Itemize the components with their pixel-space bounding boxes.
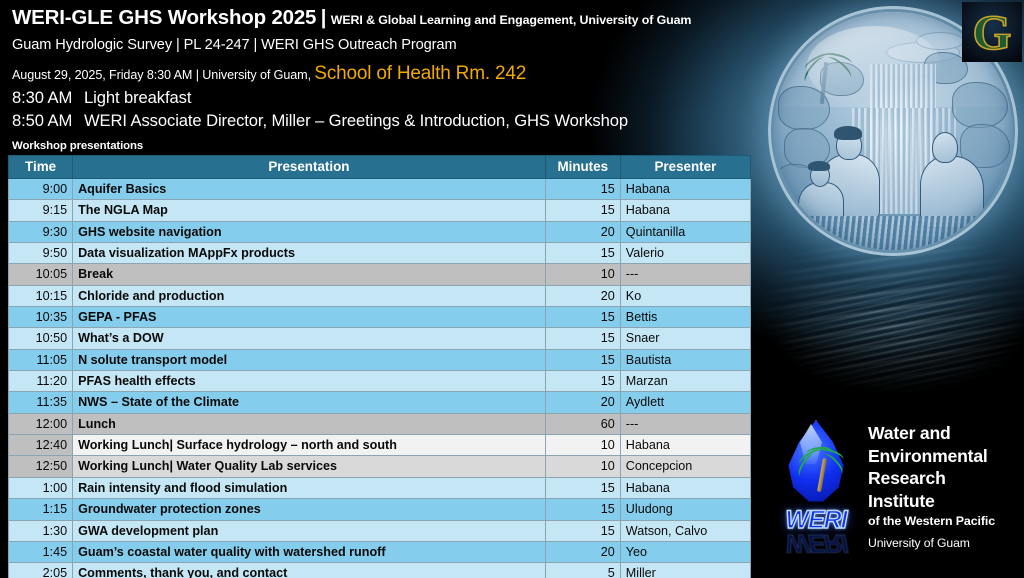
row-presentation: GEPA - PFAS — [73, 307, 546, 328]
row-presentation: Guam’s coastal water quality with waters… — [73, 541, 546, 562]
weri-name-line-3: Research — [868, 467, 995, 490]
weri-logo-block: WERI WERI Water and Environmental Resear… — [778, 420, 995, 552]
pre-item-time: 8:30 AM — [12, 86, 84, 109]
row-time: 12:00 — [9, 413, 73, 434]
row-presenter: Valerio — [620, 243, 750, 264]
table-row: 10:50What’s a DOW15Snaer — [9, 328, 751, 349]
row-minutes: 15 — [545, 328, 620, 349]
row-presentation: Aquifer Basics — [73, 179, 546, 200]
table-row: 1:15Groundwater protection zones15Uludon… — [9, 499, 751, 520]
row-presentation: Working Lunch| Water Quality Lab service… — [73, 456, 546, 477]
table-header-row: Time Presentation Minutes Presenter — [9, 156, 751, 179]
table-row: 11:20PFAS health effects15Marzan — [9, 371, 751, 392]
row-time: 10:05 — [9, 264, 73, 285]
column-header-presenter: Presenter — [620, 156, 750, 179]
header-line-survey: Guam Hydrologic Survey | PL 24-247 | WER… — [12, 37, 691, 53]
page-title: WERI-GLE GHS Workshop 2025 | WERI & Glob… — [12, 6, 691, 30]
table-row: 10:35GEPA - PFAS15Bettis — [9, 307, 751, 328]
row-time: 2:05 — [9, 563, 73, 578]
column-header-time: Time — [9, 156, 73, 179]
row-presenter: Yeo — [620, 541, 750, 562]
row-presentation: NWS – State of the Climate — [73, 392, 546, 413]
column-header-presentation: Presentation — [73, 156, 546, 179]
table-row: 9:00Aquifer Basics15Habana — [9, 179, 751, 200]
uog-g-letter: G — [973, 4, 1012, 60]
row-minutes: 15 — [545, 499, 620, 520]
row-presenter: Habana — [620, 435, 750, 456]
table-row: 2:05Comments, thank you, and contact5Mil… — [9, 563, 751, 578]
row-presenter: Concepcion — [620, 456, 750, 477]
table-row: 9:50Data visualization MAppFx products15… — [9, 243, 751, 264]
row-time: 1:30 — [9, 520, 73, 541]
agenda-table: Time Presentation Minutes Presenter 9:00… — [8, 155, 751, 578]
row-minutes: 20 — [545, 285, 620, 306]
table-row: 11:05N solute transport model15Bautista — [9, 349, 751, 370]
title-separator: | — [321, 7, 327, 29]
row-presentation: The NGLA Map — [73, 200, 546, 221]
row-time: 10:50 — [9, 328, 73, 349]
row-presenter: Habana — [620, 179, 750, 200]
table-row: 12:50Working Lunch| Water Quality Lab se… — [9, 456, 751, 477]
section-label: Workshop presentations — [12, 140, 143, 152]
weri-name-line-4: Institute — [868, 490, 995, 513]
event-room-text: School of Health Rm. 242 — [314, 63, 526, 84]
table-row: 10:05Break10--- — [9, 264, 751, 285]
row-presentation: Chloride and production — [73, 285, 546, 306]
table-row: 12:00Lunch60--- — [9, 413, 751, 434]
table-row: 1:30GWA development plan15Watson, Calvo — [9, 520, 751, 541]
event-datetime-text: August 29, 2025, Friday 8:30 AM | Univer… — [12, 68, 311, 82]
weri-name-line-5: of the Western Pacific — [868, 514, 995, 528]
row-presenter: Bettis — [620, 307, 750, 328]
weri-wordmark-reflection: WERI — [778, 528, 854, 557]
pre-session-list: 8:30 AMLight breakfast 8:50 AMWERI Assoc… — [12, 86, 628, 132]
row-minutes: 20 — [545, 541, 620, 562]
table-row: 12:40Working Lunch| Surface hydrology – … — [9, 435, 751, 456]
row-time: 9:00 — [9, 179, 73, 200]
pre-item-text: Light breakfast — [84, 88, 191, 107]
weri-logo-mark: WERI WERI — [778, 420, 854, 552]
row-minutes: 15 — [545, 179, 620, 200]
row-minutes: 20 — [545, 392, 620, 413]
list-item: 8:30 AMLight breakfast — [12, 86, 628, 109]
table-row: 9:30GHS website navigation20Quintanilla — [9, 221, 751, 242]
row-presenter: Bautista — [620, 349, 750, 370]
row-presentation: Lunch — [73, 413, 546, 434]
row-minutes: 15 — [545, 243, 620, 264]
row-presentation: Data visualization MAppFx products — [73, 243, 546, 264]
row-presenter: Habana — [620, 477, 750, 498]
title-subtitle-text: WERI & Global Learning and Engagement, U… — [331, 13, 692, 27]
row-minutes: 10 — [545, 264, 620, 285]
row-presentation: PFAS health effects — [73, 371, 546, 392]
row-minutes: 15 — [545, 200, 620, 221]
row-presenter: Quintanilla — [620, 221, 750, 242]
row-minutes: 15 — [545, 349, 620, 370]
row-presenter: Marzan — [620, 371, 750, 392]
row-minutes: 15 — [545, 477, 620, 498]
row-presenter: Uludong — [620, 499, 750, 520]
weri-name-line-2: Environmental — [868, 445, 995, 468]
row-minutes: 20 — [545, 221, 620, 242]
row-presentation: Break — [73, 264, 546, 285]
row-time: 11:35 — [9, 392, 73, 413]
row-time: 9:15 — [9, 200, 73, 221]
row-minutes: 15 — [545, 371, 620, 392]
row-presenter: Ko — [620, 285, 750, 306]
row-minutes: 10 — [545, 435, 620, 456]
weri-name-line-1: Water and — [868, 422, 995, 445]
row-time: 9:30 — [9, 221, 73, 242]
row-time: 1:45 — [9, 541, 73, 562]
weri-institute-name: Water and Environmental Research Institu… — [868, 420, 995, 550]
row-time: 9:50 — [9, 243, 73, 264]
row-presenter: Snaer — [620, 328, 750, 349]
row-presenter: --- — [620, 413, 750, 434]
row-minutes: 5 — [545, 563, 620, 578]
list-item: 8:50 AMWERI Associate Director, Miller –… — [12, 109, 628, 132]
row-minutes: 15 — [545, 520, 620, 541]
table-row: 10:15Chloride and production20Ko — [9, 285, 751, 306]
weri-university-line: University of Guam — [868, 536, 995, 550]
row-presenter: Miller — [620, 563, 750, 578]
table-row: 9:15The NGLA Map15Habana — [9, 200, 751, 221]
column-header-minutes: Minutes — [545, 156, 620, 179]
row-presentation: Comments, thank you, and contact — [73, 563, 546, 578]
header: WERI-GLE GHS Workshop 2025 | WERI & Glob… — [12, 6, 691, 85]
row-minutes: 60 — [545, 413, 620, 434]
row-time: 12:40 — [9, 435, 73, 456]
pre-item-time: 8:50 AM — [12, 109, 84, 132]
title-main-text: WERI-GLE GHS Workshop 2025 — [12, 6, 316, 29]
header-line-datetime: August 29, 2025, Friday 8:30 AM | Univer… — [12, 63, 691, 85]
row-time: 10:35 — [9, 307, 73, 328]
row-presenter: Habana — [620, 200, 750, 221]
row-minutes: 15 — [545, 307, 620, 328]
table-row: 11:35NWS – State of the Climate20Aydlett — [9, 392, 751, 413]
row-time: 1:15 — [9, 499, 73, 520]
pre-item-text: WERI Associate Director, Miller – Greeti… — [84, 111, 628, 130]
row-presenter: Watson, Calvo — [620, 520, 750, 541]
row-presentation: Rain intensity and flood simulation — [73, 477, 546, 498]
row-presenter: Aydlett — [620, 392, 750, 413]
row-time: 12:50 — [9, 456, 73, 477]
row-time: 10:15 — [9, 285, 73, 306]
row-presentation: N solute transport model — [73, 349, 546, 370]
row-presentation: GWA development plan — [73, 520, 546, 541]
table-row: 1:00Rain intensity and flood simulation1… — [9, 477, 751, 498]
row-presentation: GHS website navigation — [73, 221, 546, 242]
row-presentation: Groundwater protection zones — [73, 499, 546, 520]
row-presentation: What’s a DOW — [73, 328, 546, 349]
table-row: 1:45Guam’s coastal water quality with wa… — [9, 541, 751, 562]
uog-logo: G — [962, 2, 1022, 62]
row-presenter: --- — [620, 264, 750, 285]
row-minutes: 10 — [545, 456, 620, 477]
row-presentation: Working Lunch| Surface hydrology – north… — [73, 435, 546, 456]
row-time: 11:05 — [9, 349, 73, 370]
row-time: 1:00 — [9, 477, 73, 498]
row-time: 11:20 — [9, 371, 73, 392]
